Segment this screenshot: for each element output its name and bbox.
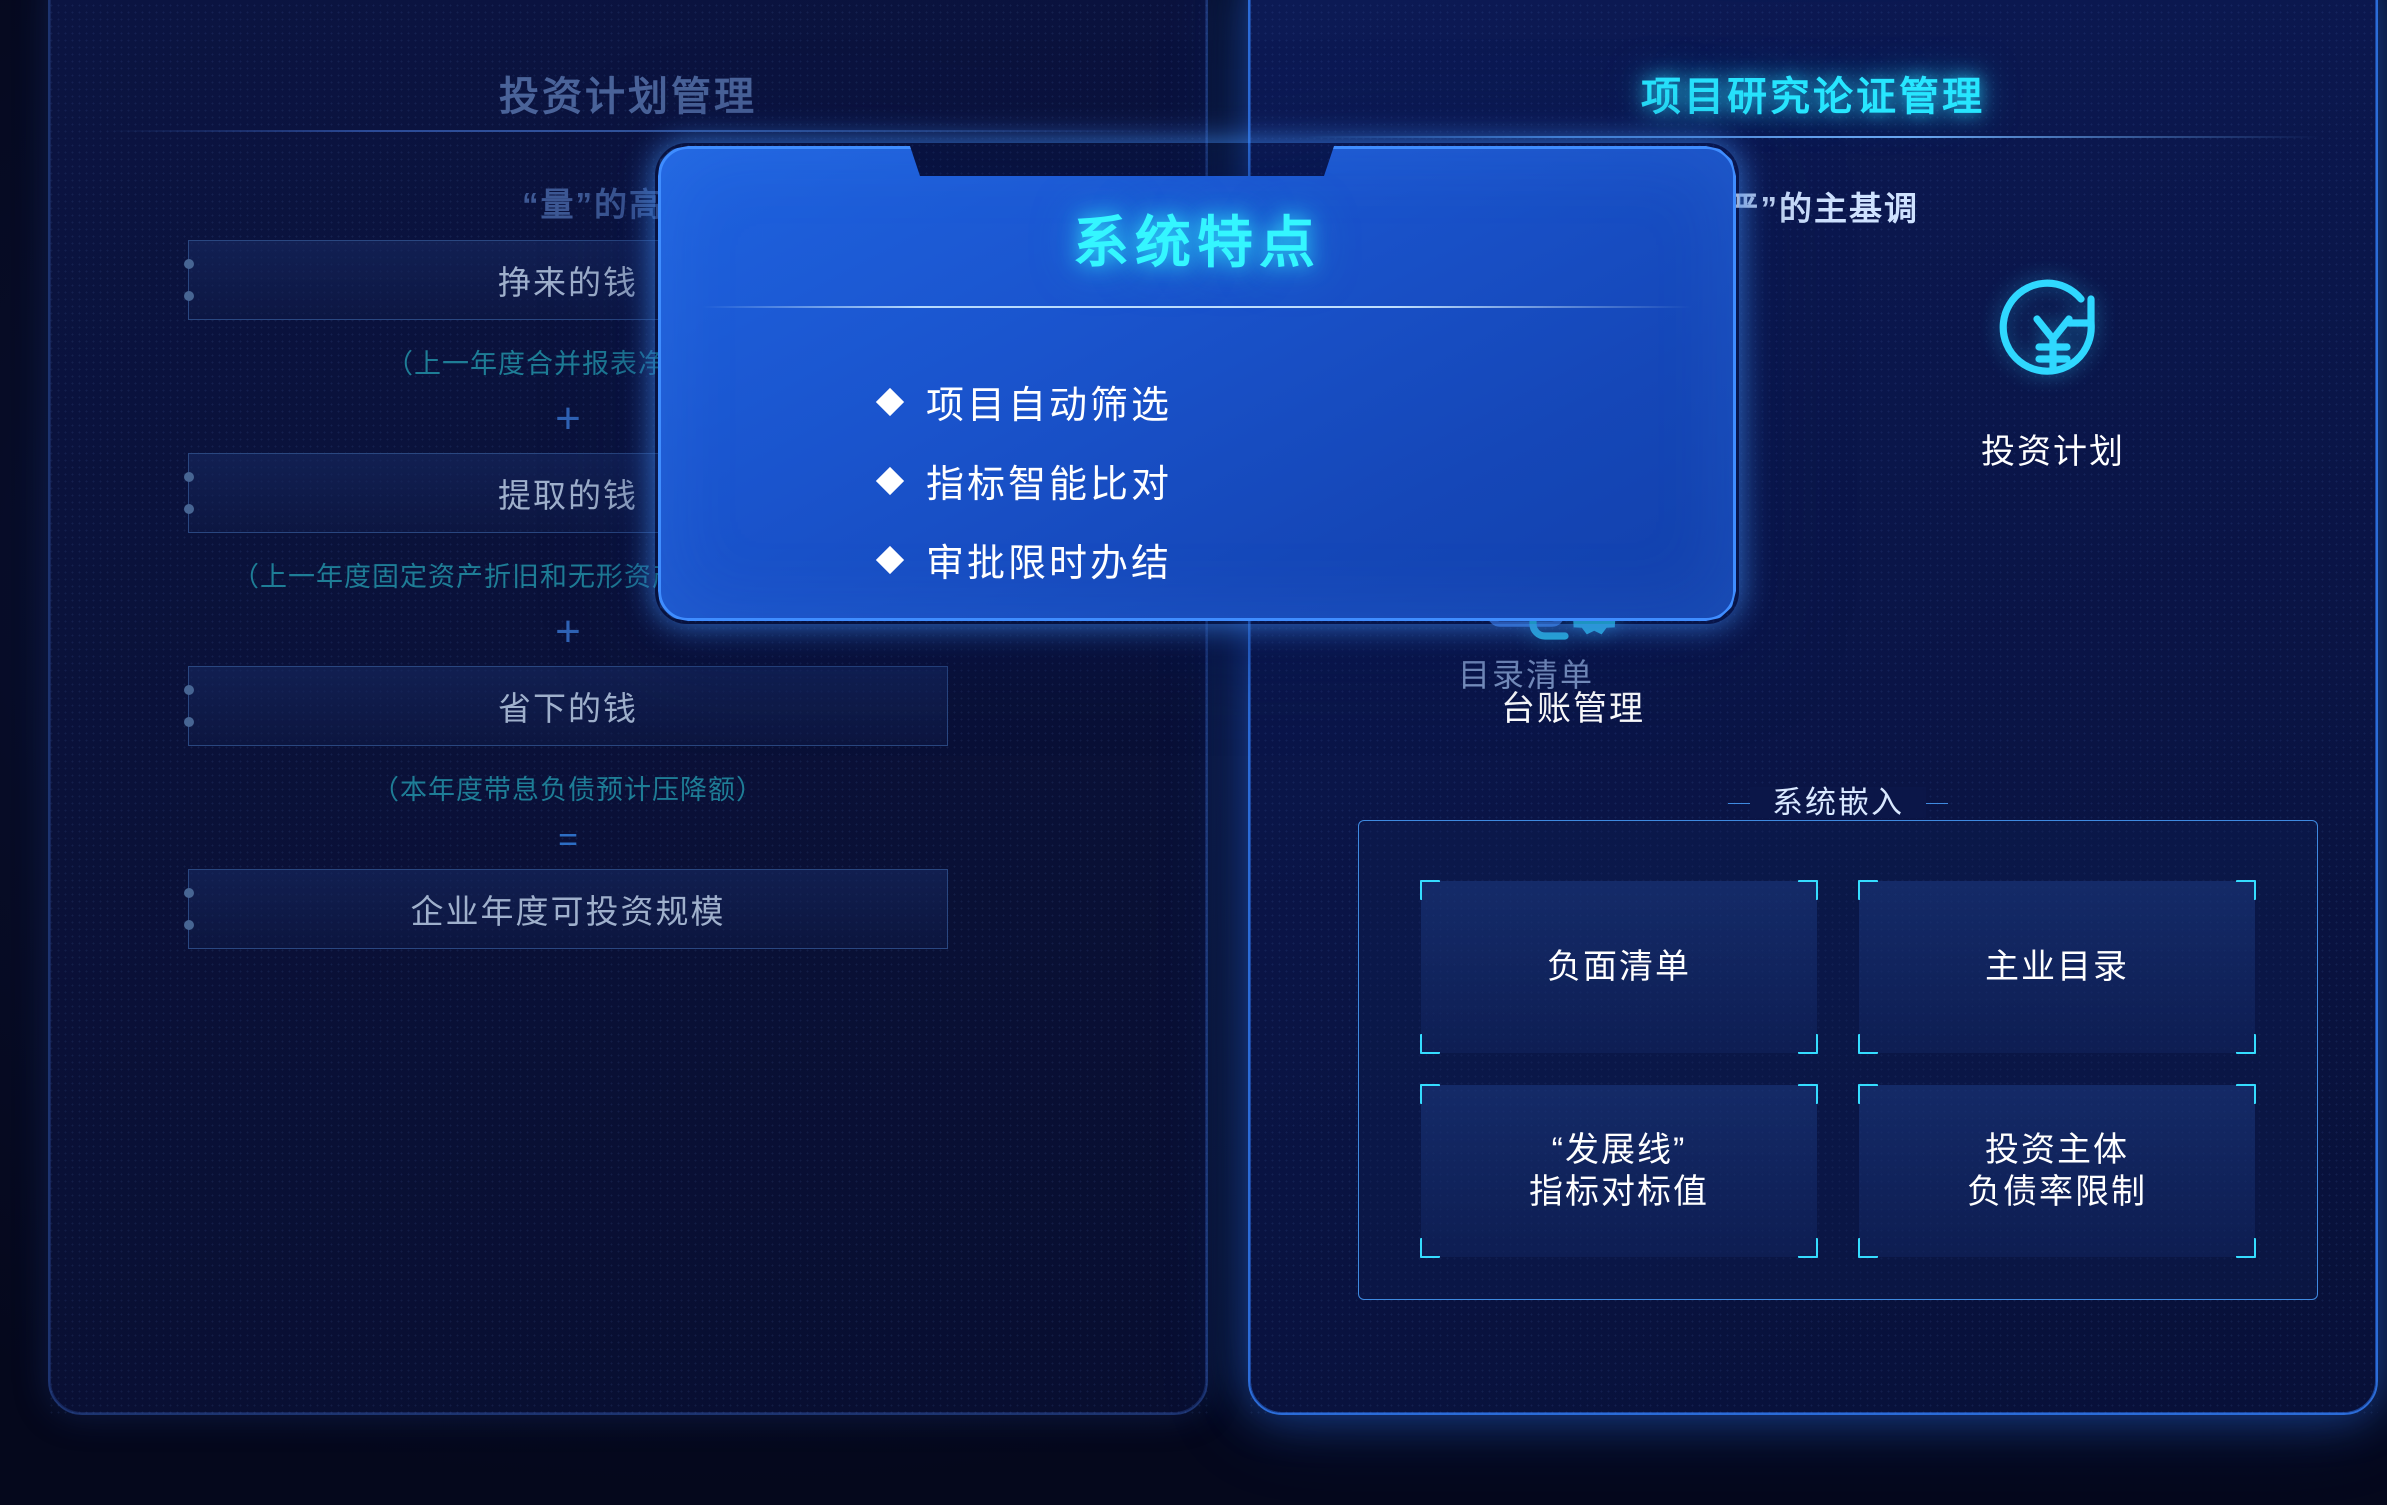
system-embed-legend: 系统嵌入 — [1750, 787, 1926, 818]
embed-label-negative-list-line1: 负面清单 — [1547, 946, 1691, 989]
system-embed-grid: 负面清单 主业目录 — [1421, 881, 2255, 1257]
diamond-bullet-icon — [876, 545, 904, 573]
module-label-ledger-management: 台账管理 — [1423, 681, 1723, 730]
corner-bracket-icon — [2236, 1238, 2256, 1258]
embed-label-investor-line1: 投资主体 — [1967, 1129, 2147, 1172]
page-title-right: 项目研究论证管理 — [1248, 64, 2378, 122]
feature-label-smart-comparison: 指标智能比对 — [926, 453, 1172, 508]
embed-label-investor-line2: 负债率限制 — [1967, 1171, 2147, 1214]
list-item[interactable]: 指标智能比对 — [880, 453, 1172, 508]
formula-box-result-label: 企业年度可投资规模 — [411, 885, 726, 933]
diamond-bullet-icon — [876, 466, 904, 494]
page-title-left: 投资计划管理 — [48, 64, 1208, 122]
corner-bracket-icon — [1858, 880, 1878, 900]
corner-bracket-icon — [2236, 1034, 2256, 1054]
system-features-list: 项目自动筛选 指标智能比对 审批限时办结 — [880, 374, 1172, 611]
corner-bracket-icon — [2236, 1084, 2256, 1104]
list-item[interactable]: 审批限时办结 — [880, 532, 1172, 587]
corner-bracket-icon — [1420, 1034, 1440, 1054]
system-features-card[interactable]: 系统特点 项目自动筛选 指标智能比对 审批限时办结 — [658, 146, 1736, 621]
system-features-divider — [702, 306, 1692, 308]
embed-cell-investor-debt-limit[interactable]: 投资主体 负债率限制 — [1859, 1085, 2255, 1257]
embed-cell-negative-list[interactable]: 负面清单 — [1421, 881, 1817, 1053]
formula-box-saved: 省下的钱 — [188, 666, 948, 746]
embed-label-development-line1: “发展线” — [1529, 1129, 1709, 1172]
module-label-investment-plan: 投资计划 — [1903, 424, 2203, 473]
embed-label-main-business-line1: 主业目录 — [1985, 946, 2129, 989]
formula-box-earned-label: 挣来的钱 — [498, 256, 638, 304]
module-item-investment-plan[interactable]: 投资计划 — [1903, 260, 2203, 473]
embed-label-development-line2: 指标对标值 — [1529, 1171, 1709, 1214]
corner-bracket-icon — [1858, 1238, 1878, 1258]
formula-operator-equals: = — [188, 823, 948, 857]
panel-right-divider — [1306, 136, 2320, 138]
formula-box-saved-label: 省下的钱 — [498, 682, 638, 730]
embed-cell-development-line[interactable]: “发展线” 指标对标值 — [1421, 1085, 1817, 1257]
corner-bracket-icon — [2236, 880, 2256, 900]
panel-left-divider — [106, 130, 1150, 132]
list-item[interactable]: 项目自动筛选 — [880, 374, 1172, 429]
corner-bracket-icon — [1798, 1084, 1818, 1104]
formula-box-extracted-label: 提取的钱 — [498, 469, 638, 517]
system-features-title: 系统特点 — [658, 198, 1736, 279]
corner-bracket-icon — [1798, 1238, 1818, 1258]
embed-cell-main-business-catalog[interactable]: 主业目录 — [1859, 881, 2255, 1053]
formula-box-result: 企业年度可投资规模 — [188, 869, 948, 949]
yuan-cycle-icon — [1903, 260, 2203, 410]
formula-note-saved: （本年度带息负债预计压降额） — [188, 768, 948, 807]
corner-bracket-icon — [1420, 1238, 1440, 1258]
corner-bracket-icon — [1798, 1034, 1818, 1054]
corner-bracket-icon — [1420, 880, 1440, 900]
corner-bracket-icon — [1798, 880, 1818, 900]
corner-bracket-icon — [1420, 1084, 1440, 1104]
system-embed-box: 系统嵌入 负面清单 主业目录 — [1358, 820, 2318, 1300]
corner-bracket-icon — [1858, 1034, 1878, 1054]
feature-label-auto-screening: 项目自动筛选 — [926, 374, 1172, 429]
diamond-bullet-icon — [876, 387, 904, 415]
feature-label-time-limited-approval: 审批限时办结 — [926, 532, 1172, 587]
corner-bracket-icon — [1858, 1084, 1878, 1104]
slide-canvas: 投资计划管理 “量”的高标准 挣来的钱 （上一年度合并报表净利润） + 提取的钱… — [0, 0, 2387, 1505]
